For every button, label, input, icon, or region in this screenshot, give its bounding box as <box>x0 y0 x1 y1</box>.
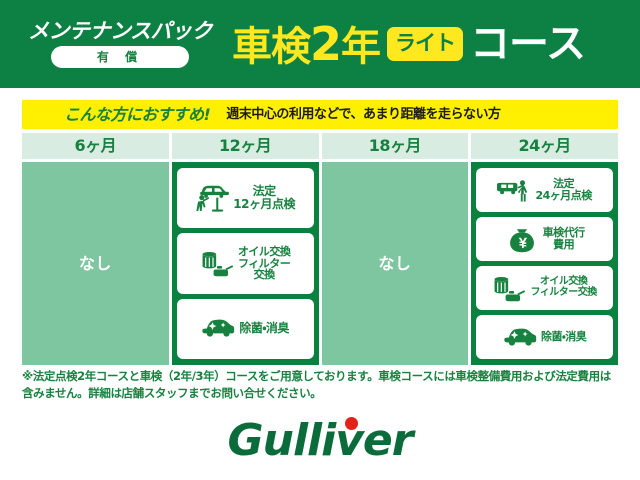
header-left-group: メンテナンスパック 有 償 <box>0 21 232 68</box>
light-badge: ライト <box>387 27 463 61</box>
service-card-label-line: 除菌・消臭 <box>239 322 289 335</box>
column-body: なし <box>22 162 169 365</box>
coverage-column-18ヶ月: 18ヶ月なし <box>322 133 469 365</box>
service-card-label: 法定24ヶ月点検 <box>535 178 591 202</box>
service-card-label-line: 交換 <box>238 269 291 281</box>
course-word: コース <box>470 24 585 64</box>
service-card: 法定24ヶ月点検 <box>476 168 613 212</box>
service-card: オイル交換フィルター交換 <box>476 266 613 310</box>
service-card-label: 法定12ヶ月点検 <box>233 185 295 211</box>
column-header: 12ヶ月 <box>172 133 319 159</box>
recommend-headline: こんな方におすすめ! <box>64 107 210 123</box>
column-body: なし <box>322 162 469 365</box>
brand-logo: Gulliver <box>0 414 640 468</box>
car-on-lift-icon <box>195 184 229 213</box>
course-main-title: 車検2年 <box>232 21 380 67</box>
recommend-bar: こんな方におすすめ! 週末中心の利用などで、あまり距離を走らない方 <box>22 100 618 129</box>
service-card: 除菌・消臭 <box>177 299 314 359</box>
paid-badge: 有 償 <box>51 46 189 68</box>
logo-dot-icon <box>345 417 358 430</box>
service-card-label-line: 12ヶ月点検 <box>233 198 295 211</box>
service-card-label: オイル交換フィルター交換 <box>530 277 596 299</box>
service-card: 車検代行費用 <box>476 217 613 261</box>
money-bag-yen-icon <box>505 225 539 254</box>
coverage-table: 6ヶ月なし12ヶ月 法定12ヶ月点検 オイル交換フィルター交換 除菌・消臭18ヶ… <box>22 133 618 365</box>
service-card-label-line: 費用 <box>543 239 585 251</box>
service-card-label-line: オイル交換 <box>238 246 291 258</box>
column-header: 6ヶ月 <box>22 133 169 159</box>
maintenance-pack-title: メンテナンスパック <box>28 21 212 42</box>
sparkle-car-icon <box>503 323 537 352</box>
footnote-text: ※法定点検2年コースと車検（2年/3年）コースをご用意しております。車検コースに… <box>22 368 618 401</box>
service-card-label: 車検代行費用 <box>543 227 585 251</box>
brand-logo-text: Gulliver <box>228 415 413 466</box>
header-band: メンテナンスパック 有 償 車検2年 ライト コース <box>0 0 640 88</box>
header-right-group: 車検2年 ライト コース <box>232 21 640 67</box>
coverage-column-6ヶ月: 6ヶ月なし <box>22 133 169 365</box>
car-inspection-icon <box>497 176 531 205</box>
service-card: 除菌・消臭 <box>476 315 613 359</box>
service-card-label: 除菌・消臭 <box>541 331 586 343</box>
recommend-description: 週末中心の利用などで、あまり距離を走らない方 <box>226 108 500 121</box>
service-card-label-line: フィルター交換 <box>530 288 596 299</box>
column-header: 24ヶ月 <box>471 133 618 159</box>
maintenance-pack-poster: メンテナンスパック 有 償 車検2年 ライト コース こんな方におすすめ! 週末… <box>0 0 640 480</box>
coverage-column-12ヶ月: 12ヶ月 法定12ヶ月点検 オイル交換フィルター交換 除菌・消臭 <box>172 133 319 365</box>
service-card-label-line: 24ヶ月点検 <box>535 190 591 202</box>
sparkle-car-icon <box>201 314 235 343</box>
column-body: 法定12ヶ月点検 オイル交換フィルター交換 除菌・消臭 <box>172 162 319 365</box>
oil-filter-can-icon <box>492 274 526 303</box>
oil-filter-can-icon <box>200 249 234 278</box>
service-card: オイル交換フィルター交換 <box>177 233 314 293</box>
column-header: 18ヶ月 <box>322 133 469 159</box>
service-card-label: 除菌・消臭 <box>239 322 289 335</box>
service-card-label: オイル交換フィルター交換 <box>238 246 291 282</box>
no-service-label: なし <box>79 256 112 272</box>
column-body: 法定24ヶ月点検 車検代行費用 オイル交換フィルター交換 除菌・消臭 <box>471 162 618 365</box>
coverage-column-24ヶ月: 24ヶ月 法定24ヶ月点検 車検代行費用 オイル交換フィルター交換 <box>471 133 618 365</box>
service-card: 法定12ヶ月点検 <box>177 168 314 228</box>
service-card-label-line: 除菌・消臭 <box>541 331 586 343</box>
no-service-label: なし <box>378 256 411 272</box>
